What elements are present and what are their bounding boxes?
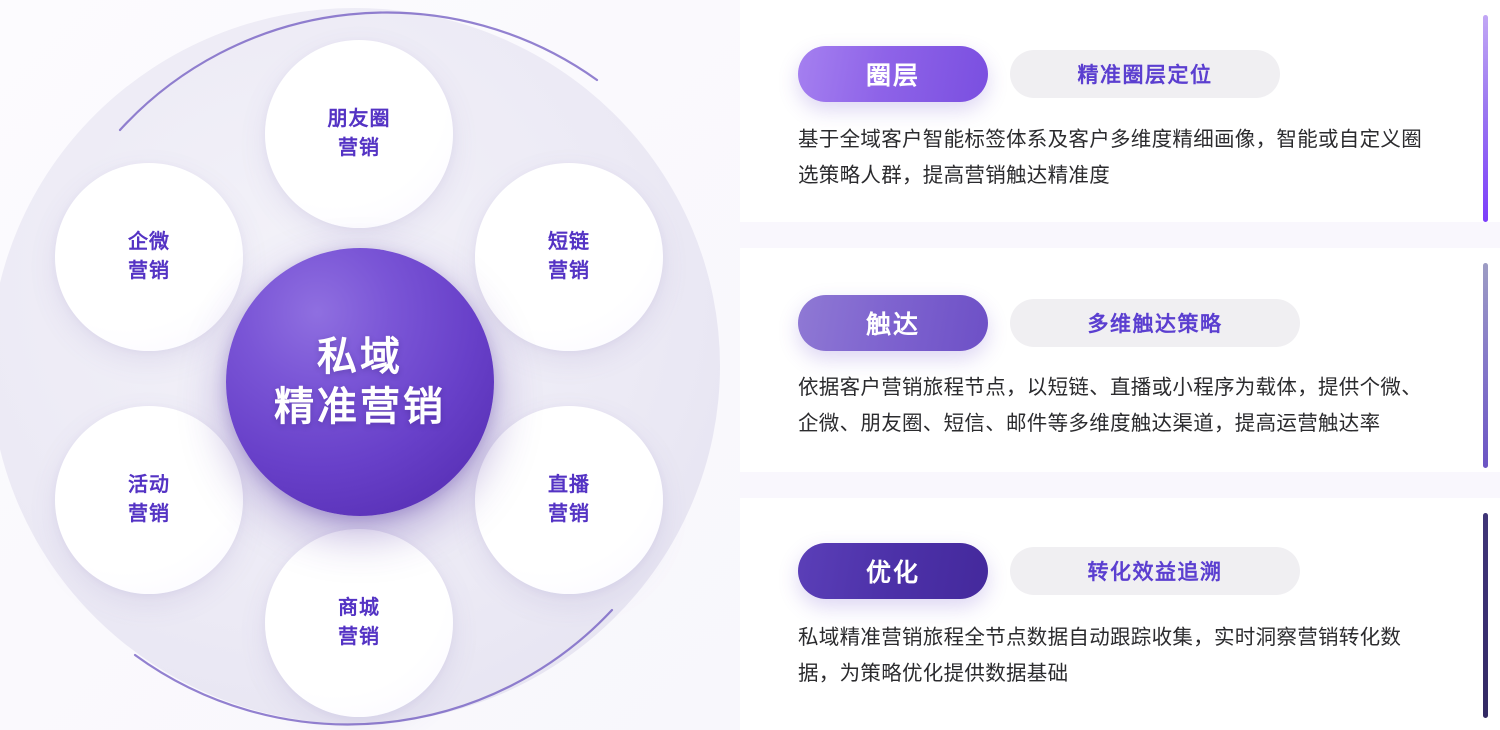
- node-label-line2: 营销: [548, 257, 590, 286]
- node-pengyouquan-marketing[interactable]: 朋友圈 营销: [265, 40, 453, 228]
- section-2-tag-pill[interactable]: 触达: [798, 295, 988, 351]
- section-1-description: 基于全域客户智能标签体系及客户多维度精细画像，智能或自定义圈选策略人群，提高营销…: [798, 122, 1438, 194]
- section-2-pill-row: 触达 多维触达策略: [798, 295, 1300, 351]
- node-huodong-marketing[interactable]: 活动 营销: [55, 406, 243, 594]
- section-3-pill-row: 优化 转化效益追溯: [798, 543, 1300, 599]
- node-label-line2: 营销: [338, 134, 380, 163]
- node-duanlian-marketing[interactable]: 短链 营销: [475, 163, 663, 351]
- section-youhua: 优化 转化效益追溯 私域精准营销旅程全节点数据自动跟踪收集，实时洞察营销转化数据…: [740, 498, 1500, 730]
- node-shangcheng-marketing[interactable]: 商城 营销: [265, 529, 453, 717]
- node-label-line1: 企微: [128, 228, 170, 257]
- feature-sections-panel: 圈层 精准圈层定位 基于全域客户智能标签体系及客户多维度精细画像，智能或自定义圈…: [740, 0, 1500, 730]
- section-3-accent-bar: [1483, 513, 1488, 718]
- node-label-line1: 直播: [548, 471, 590, 500]
- section-3-tag-pill[interactable]: 优化: [798, 543, 988, 599]
- node-label-line1: 商城: [338, 594, 380, 623]
- node-zhibo-marketing[interactable]: 直播 营销: [475, 406, 663, 594]
- section-1-subtitle-pill[interactable]: 精准圈层定位: [1010, 50, 1280, 98]
- node-label-line2: 营销: [548, 500, 590, 529]
- section-divider-band-2: [740, 472, 1500, 498]
- section-3-description: 私域精准营销旅程全节点数据自动跟踪收集，实时洞察营销转化数据，为策略优化提供数据…: [798, 620, 1438, 692]
- section-1-pill-row: 圈层 精准圈层定位: [798, 46, 1280, 102]
- section-divider-band-1: [740, 222, 1500, 248]
- section-quanceng: 圈层 精准圈层定位 基于全域客户智能标签体系及客户多维度精细画像，智能或自定义圈…: [740, 0, 1500, 222]
- infographic-root: 朋友圈 营销 短链 营销 直播 营销 商城 营销 活动 营销 企微 营销 私域 …: [0, 0, 1500, 730]
- section-2-accent-bar: [1483, 263, 1488, 468]
- section-chuda: 触达 多维触达策略 依据客户营销旅程节点，以短链、直播或小程序为载体，提供个微、…: [740, 248, 1500, 472]
- section-1-tag-pill[interactable]: 圈层: [798, 46, 988, 102]
- section-2-description: 依据客户营销旅程节点，以短链、直播或小程序为载体，提供个微、企微、朋友圈、短信、…: [798, 370, 1438, 442]
- core-label-line2: 精准营销: [274, 382, 446, 432]
- section-2-subtitle-pill[interactable]: 多维触达策略: [1010, 299, 1300, 347]
- node-label-line2: 营销: [128, 257, 170, 286]
- node-qiwei-marketing[interactable]: 企微 营销: [55, 163, 243, 351]
- node-label-line2: 营销: [128, 500, 170, 529]
- node-label-line1: 朋友圈: [328, 105, 391, 134]
- section-3-subtitle-pill[interactable]: 转化效益追溯: [1010, 547, 1300, 595]
- private-domain-marketing-diagram: 朋友圈 营销 短链 营销 直播 营销 商城 营销 活动 营销 企微 营销 私域 …: [0, 0, 740, 730]
- section-1-accent-bar: [1483, 15, 1488, 222]
- node-label-line2: 营销: [338, 623, 380, 652]
- node-label-line1: 活动: [128, 471, 170, 500]
- diagram-core-circle: 私域 精准营销: [226, 248, 494, 516]
- node-label-line1: 短链: [548, 228, 590, 257]
- core-label-line1: 私域: [317, 332, 403, 382]
